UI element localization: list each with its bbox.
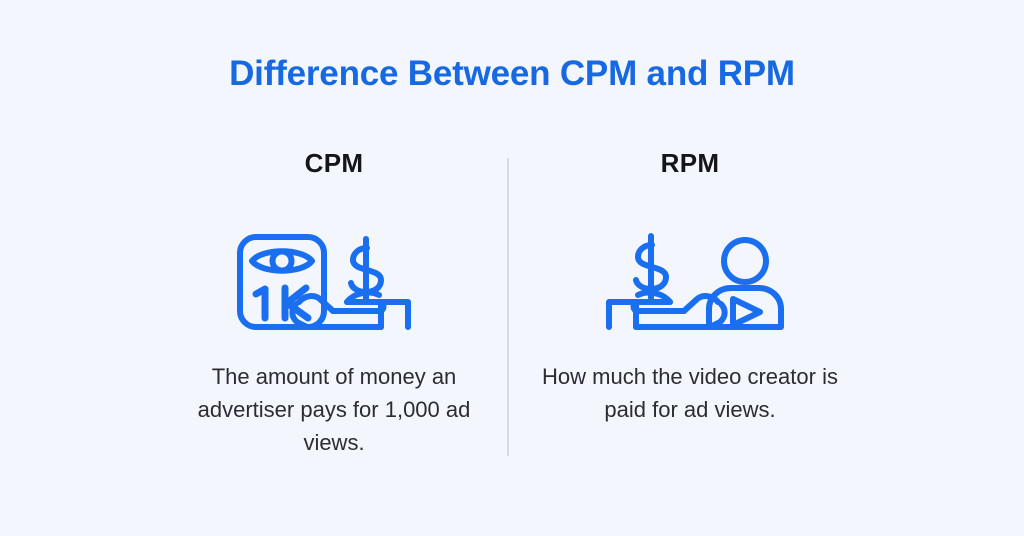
rpm-column: RPM xyxy=(512,148,868,426)
cpm-heading: CPM xyxy=(305,148,364,182)
page-title: Difference Between CPM and RPM xyxy=(0,52,1024,96)
rpm-heading: RPM xyxy=(661,148,720,182)
infographic-canvas: Difference Between CPM and RPM CPM xyxy=(0,0,1024,536)
rpm-description: How much the video creator is paid for a… xyxy=(540,360,840,426)
comparison-columns: CPM xyxy=(0,148,1024,468)
cpm-description: The amount of money an advertiser pays f… xyxy=(184,360,484,459)
vertical-divider xyxy=(507,158,509,456)
cpm-column: CPM xyxy=(156,148,512,459)
cpm-icon-wrap xyxy=(229,228,439,328)
eye-1k-box-dollar-hand-icon xyxy=(229,223,439,333)
dollar-hand-creator-play-icon xyxy=(585,223,795,333)
rpm-icon-wrap xyxy=(585,228,795,328)
